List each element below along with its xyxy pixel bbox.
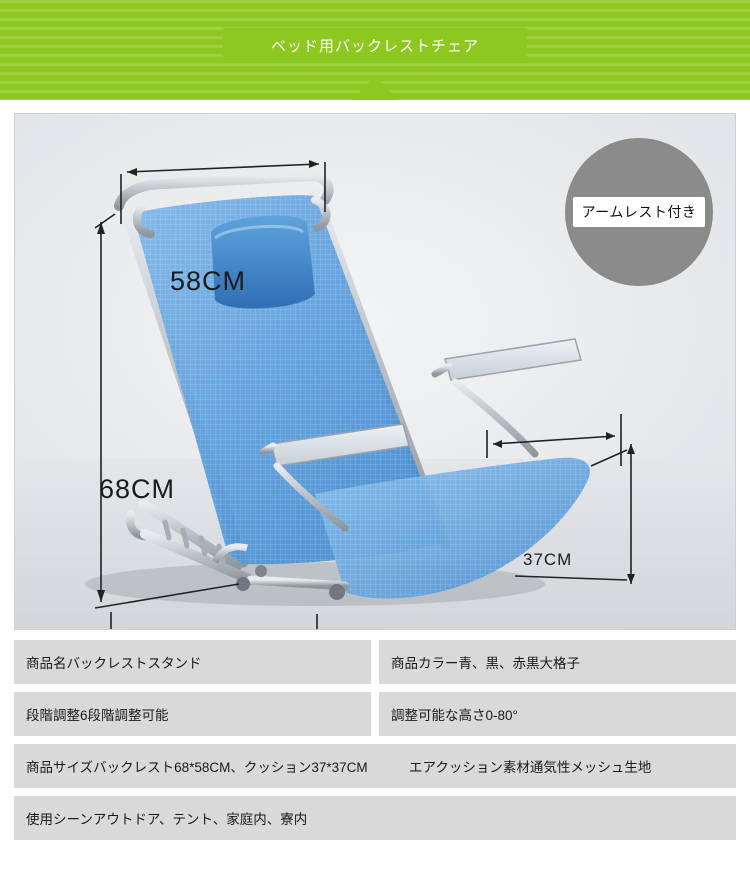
spec-row: 商品サイズバックレスト68*58CM、クッション37*37CM エアクッション素…: [14, 744, 736, 788]
spec-product-name: 商品名バックレストスタンド: [14, 640, 371, 684]
spec-usage-scene: 使用シーンアウトドア、テント、家庭内、寮内: [14, 796, 736, 840]
dimension-label-cushion-width: 37CM: [523, 550, 572, 570]
spec-adjust-steps: 段階調整6段階調整可能: [14, 692, 371, 736]
spec-product-color: 商品カラー青、黒、赤黒大格子: [379, 640, 736, 684]
spec-row: 段階調整6段階調整可能 調整可能な高さ0-80°: [14, 692, 736, 736]
header-title-plate: ベッド用バックレストチェア: [223, 28, 527, 62]
spec-row: 使用シーンアウトドア、テント、家庭内、寮内: [14, 796, 736, 840]
spec-material-text: エアクッション素材通気性メッシュ生地: [409, 744, 651, 788]
spec-row: 商品名バックレストスタンド 商品カラー青、黒、赤黒大格子: [14, 640, 736, 684]
page-title: ベッド用バックレストチェア: [271, 35, 479, 56]
product-image-panel: 58CM 68CM 50CM 37CM 37CM アームレスト付き: [14, 113, 736, 630]
spec-table: 商品名バックレストスタンド 商品カラー青、黒、赤黒大格子 段階調整6段階調整可能…: [14, 640, 736, 848]
spec-adjust-angle: 調整可能な高さ0-80°: [379, 692, 736, 736]
page-header: ベッド用バックレストチェア: [0, 0, 750, 100]
product-image: 58CM 68CM 50CM 37CM 37CM アームレスト付き: [15, 114, 735, 629]
dimension-label-height-left: 68CM: [99, 474, 175, 505]
dimension-label-width-top: 58CM: [170, 266, 246, 297]
spec-product-size-text: 商品サイズバックレスト68*58CM、クッション37*37CM: [26, 756, 368, 776]
armrest-badge-label: アームレスト付き: [573, 197, 706, 227]
armrest-badge: アームレスト付き: [565, 138, 713, 286]
spec-product-size: 商品サイズバックレスト68*58CM、クッション37*37CM エアクッション素…: [14, 744, 736, 788]
